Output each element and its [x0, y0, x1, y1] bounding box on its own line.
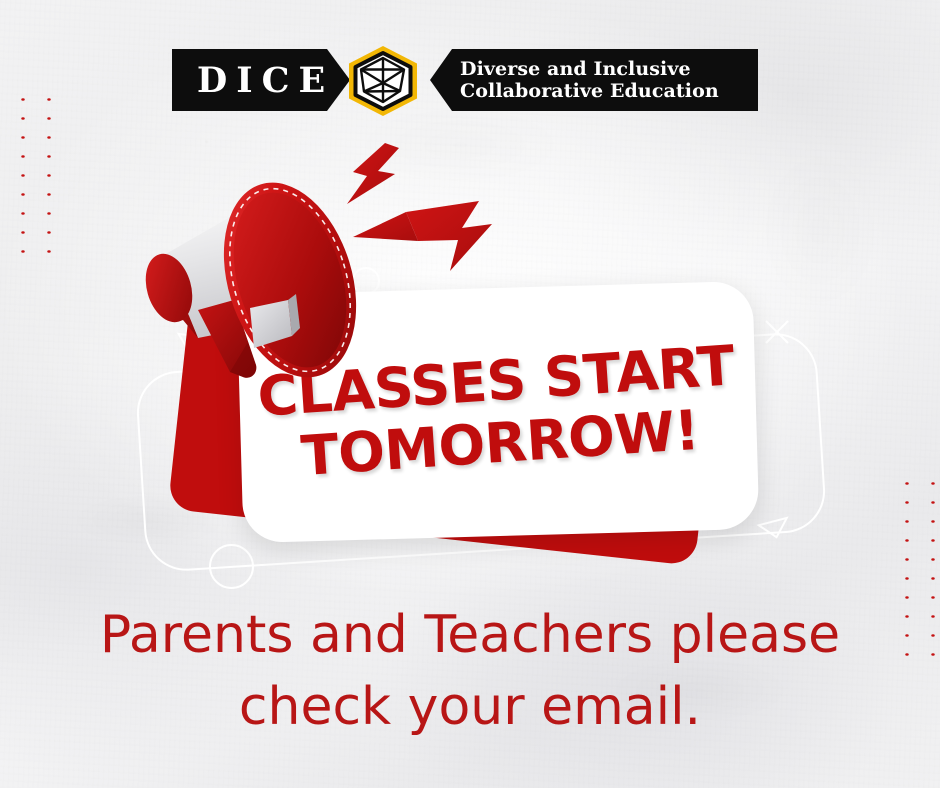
- announcement-poster: DICE Diverse a: [0, 0, 940, 788]
- logo-tagline: Diverse and Inclusive Collaborative Educ…: [460, 58, 719, 103]
- bottom-message: Parents and Teachers please check your e…: [60, 600, 880, 744]
- logo-brand-text: DICE: [188, 63, 334, 98]
- x-mark-outline: [763, 318, 791, 346]
- d20-dice-hexagon-icon: [344, 45, 422, 117]
- dot-grid-left: [8, 88, 54, 258]
- dice-logo: DICE Diverse a: [172, 45, 728, 117]
- logo-tagline-line-1: Diverse and Inclusive: [460, 58, 719, 80]
- megaphone-icon: [138, 160, 398, 380]
- logo-tagline-line-2: Collaborative Education: [460, 80, 719, 102]
- dot-grid-right: [892, 472, 940, 672]
- logo-tagline-banner: Diverse and Inclusive Collaborative Educ…: [430, 49, 758, 111]
- bottom-message-line-1: Parents and Teachers please: [60, 600, 880, 672]
- bottom-message-line-2: check your email.: [60, 672, 880, 744]
- logo-brand-banner: DICE: [172, 49, 350, 111]
- circle-outline-large: [209, 544, 254, 589]
